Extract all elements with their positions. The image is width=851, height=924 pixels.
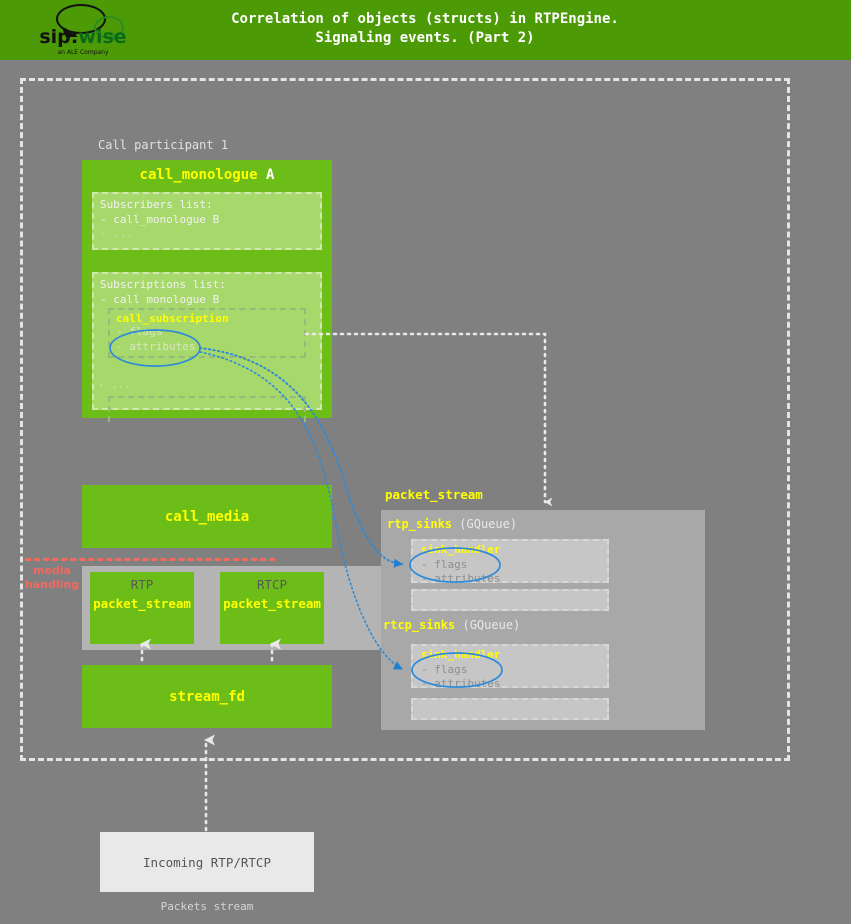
page-title-line2: Signaling events. (Part 2) [170, 29, 680, 48]
call-subscription-name: call_subscription [110, 310, 304, 325]
rtp-sink-handler-field-1: - attributes [421, 572, 599, 587]
call-media-box: call_media [82, 485, 332, 548]
logo-sip-text: sip [39, 26, 70, 48]
rtp-sink-handler-name: sink_handler [421, 543, 599, 558]
logo-tagline: an ALE Company [28, 49, 138, 56]
rtcp-kind-label: RTCP [220, 577, 324, 592]
subscribers-heading: Subscribers list: [100, 198, 314, 213]
rtcp-sink-handler-field-0: - flags [421, 663, 599, 678]
rtcp-sinks-label: rtcp_sinks (GQueue) [383, 618, 520, 632]
rtp-sink-handler-empty-row [411, 589, 609, 611]
rtcp-sink-handler-row: sink_handler - flags - attributes [411, 644, 609, 688]
rtp-sinks-name: rtp_sinks [387, 517, 452, 531]
subscriptions-item-1: - ... [98, 378, 131, 391]
rtcp-sinks-type: (GQueue) [462, 618, 520, 632]
app-header: sip:wise an ALE Company Correlation of o… [0, 0, 851, 60]
subscriptions-heading: Subscriptions list: [100, 278, 314, 293]
call-media-name: call_media [165, 509, 249, 525]
rtp-sink-handler-field-0: - flags [421, 558, 599, 573]
rtcp-sink-handler-name: sink_handler [421, 648, 599, 663]
subscribers-item-1: - ... [100, 227, 314, 242]
subscribers-list-panel: Subscribers list: - call_monologue B - .… [92, 192, 322, 250]
rtp-kind-label: RTP [90, 577, 194, 592]
call-subscription-placeholder-box [108, 396, 306, 422]
call-monologue-title: call_monologue A [82, 167, 332, 183]
page-title-line1: Correlation of objects (structs) in RTPE… [170, 10, 680, 29]
sipwise-logo: sip:wise an ALE Company [28, 2, 138, 58]
rtp-sinks-label: rtp_sinks (GQueue) [387, 517, 517, 531]
call-subscription-field-1: - attributes [110, 340, 304, 355]
rtcp-sink-handler-empty-row [411, 698, 609, 720]
rtcp-packet-stream-box: RTCP packet_stream [220, 572, 324, 644]
stream-fd-box: stream_fd [82, 665, 332, 728]
rtp-sinks-type: (GQueue) [459, 517, 517, 531]
subscribers-item-0: - call_monologue B [100, 213, 314, 228]
logo-wise-text: wise [78, 26, 126, 48]
call-monologue-suffix: A [266, 167, 274, 183]
media-handling-label-line2: handling [20, 578, 84, 592]
call-monologue-name: call_monologue [140, 167, 258, 183]
media-handling-label: media handling [20, 564, 84, 592]
subscriptions-item-0: - call monologue B [100, 293, 314, 308]
stream-fd-name: stream_fd [169, 689, 245, 705]
logo-wordmark: sip:wise [28, 28, 138, 47]
packets-stream-caption: Packets stream [100, 900, 314, 913]
rtcp-sinks-name: rtcp_sinks [383, 618, 455, 632]
rtp-sink-handler-row: sink_handler - flags - attributes [411, 539, 609, 583]
call-participant-label: Call participant 1 [98, 138, 228, 152]
call-subscription-box: call_subscription - flags - attributes [108, 308, 306, 358]
rtp-packet-stream-name: packet_stream [90, 596, 194, 611]
media-handling-label-line1: media [20, 564, 84, 578]
packet-stream-panel-title: packet_stream [385, 487, 483, 502]
rtcp-packet-stream-name: packet_stream [220, 596, 324, 611]
incoming-rtp-rtcp-label: Incoming RTP/RTCP [143, 855, 271, 870]
incoming-rtp-rtcp-box: Incoming RTP/RTCP [100, 832, 314, 892]
call-subscription-field-0: - flags [110, 325, 304, 340]
rtp-packet-stream-box: RTP packet_stream [90, 572, 194, 644]
media-handling-divider [25, 558, 275, 561]
rtcp-sink-handler-field-1: - attributes [421, 677, 599, 692]
page-title: Correlation of objects (structs) in RTPE… [170, 10, 680, 48]
